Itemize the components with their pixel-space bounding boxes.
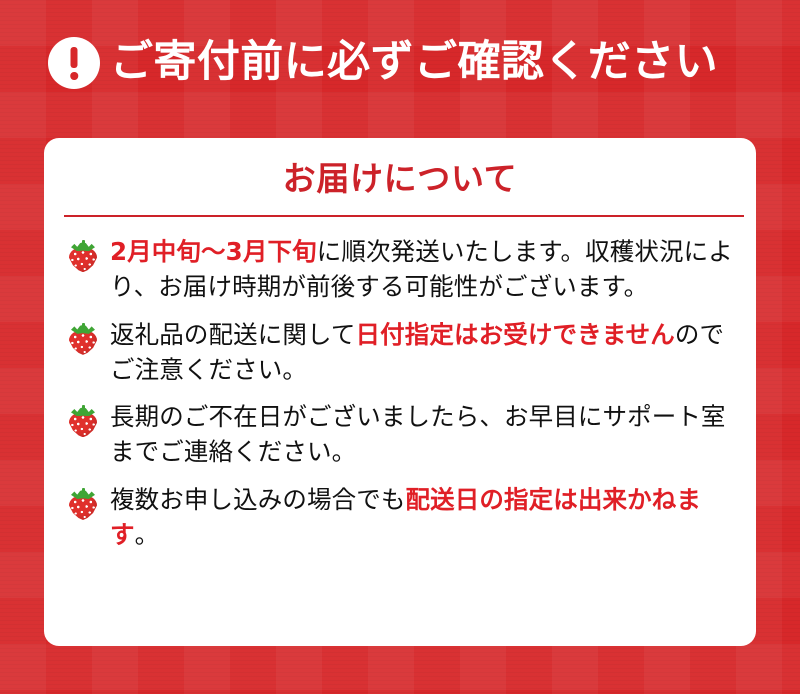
delivery-info-card: お届けについて 2月中旬～3月下旬に順次発送いたします。収穫状況により、お届け時… (44, 138, 756, 646)
header-banner: ご寄付前に必ずご確認ください (0, 0, 800, 126)
strawberry-icon (67, 323, 99, 355)
list-item: 複数お申し込みの場合でも配送日の指定は出来かねます。 (64, 483, 736, 553)
notice-page: ご寄付前に必ずご確認ください お届けについて 2月中旬～3月下旬に順次発送いたし… (0, 0, 800, 694)
list-item-text: 2月中旬～3月下旬に順次発送いたします。収穫状況により、お届け時期が前後する可能… (110, 237, 733, 301)
body-text: 複数お申し込みの場合でも (110, 485, 405, 514)
list-item: 返礼品の配送に関して日付指定はお受けできませんのでご注意ください。 (64, 318, 736, 388)
emphasis-text: 2月中旬～3月下旬 (110, 237, 317, 266)
list-item-text: 長期のご不在日がございましたら、お早目にサポート室までご連絡ください。 (110, 402, 726, 466)
body-text: 返礼品の配送に関して (110, 320, 356, 349)
list-item-text: 複数お申し込みの場合でも配送日の指定は出来かねます。 (110, 485, 701, 549)
strawberry-icon (67, 488, 99, 520)
strawberry-icon (67, 405, 99, 437)
body-text: 長期のご不在日がございましたら、お早目にサポート室までご連絡ください。 (110, 402, 726, 466)
list-item: 2月中旬～3月下旬に順次発送いたします。収穫状況により、お届け時期が前後する可能… (64, 235, 736, 305)
card-title: お届けについて (64, 158, 736, 199)
page-title: ご寄付前に必ずご確認ください (110, 40, 718, 85)
notes-list: 2月中旬～3月下旬に順次発送いたします。収穫状況により、お届け時期が前後する可能… (64, 217, 736, 552)
body-text: 。 (135, 520, 160, 549)
list-item: 長期のご不在日がございましたら、お早目にサポート室までご連絡ください。 (64, 400, 736, 470)
exclamation-circle-icon (48, 37, 100, 89)
list-item-text: 返礼品の配送に関して日付指定はお受けできませんのでご注意ください。 (110, 320, 724, 384)
strawberry-icon (67, 240, 99, 272)
emphasis-text: 日付指定はお受けできません (356, 320, 675, 349)
